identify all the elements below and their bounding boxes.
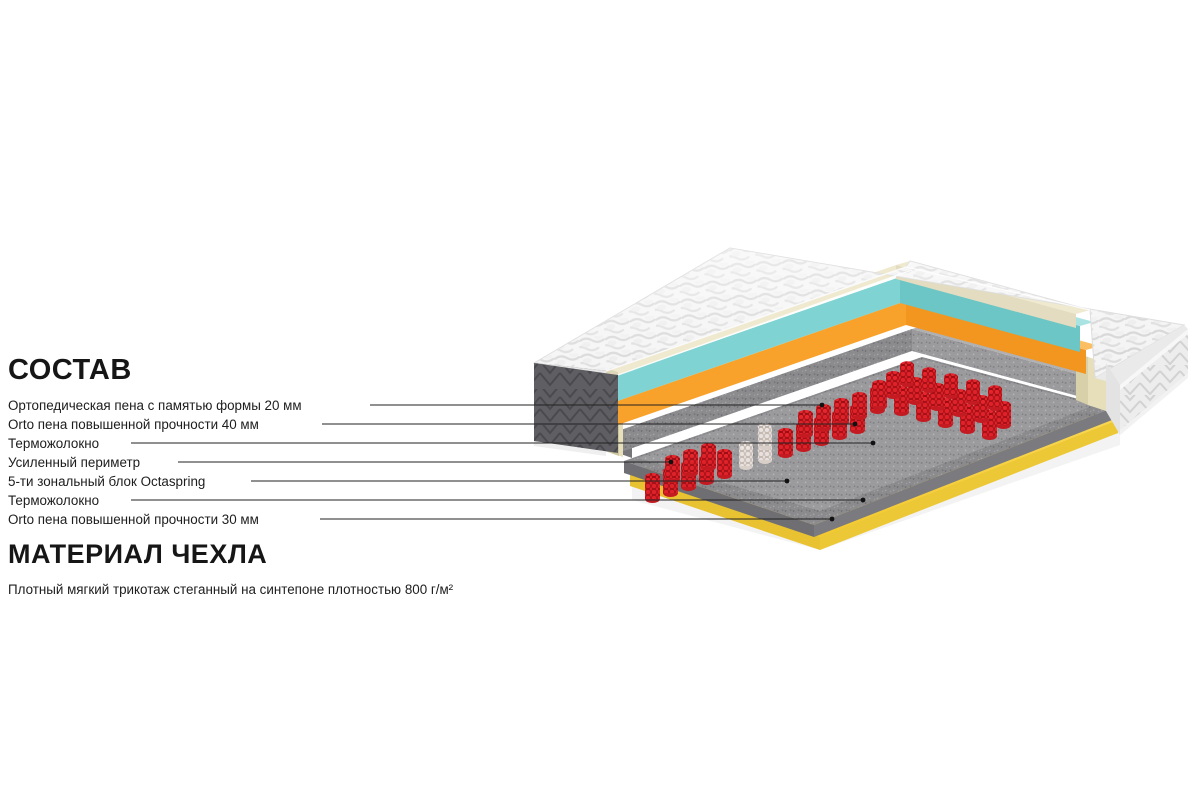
list-item: Терможолокно — [8, 434, 548, 453]
infographic-canvas: СОСТАВ Ортопедическая пена с памятью фор… — [0, 0, 1191, 794]
list-item: Orto пена повышенной прочности 30 мм — [8, 510, 548, 529]
spec-label-memory-foam: Ортопедическая пена с памятью формы 20 м… — [8, 396, 302, 415]
composition-heading: СОСТАВ — [8, 354, 132, 387]
cover-material-heading: МАТЕРИАЛ ЧЕХЛА — [8, 539, 267, 570]
list-item: Ортопедическая пена с памятью формы 20 м… — [8, 396, 548, 415]
spec-label-reinforced-perimeter: Усиленный периметр — [8, 453, 140, 472]
list-item: 5-ти зональный блок Octaspring — [8, 472, 548, 491]
mattress-svg — [520, 245, 1191, 555]
cover-material-description: Плотный мягкий трикотаж стеганный на син… — [8, 582, 453, 597]
spec-label-thermofiber-top: Терможолокно — [8, 434, 99, 453]
mattress-cutaway-illustration — [520, 245, 1191, 555]
list-item: Терможолокно — [8, 491, 548, 510]
list-item: Orto пена повышенной прочности 40 мм — [8, 415, 548, 434]
spec-label-orto-foam-top: Orto пена повышенной прочности 40 мм — [8, 415, 259, 434]
spec-label-thermofiber-bottom: Терможолокно — [8, 491, 99, 510]
spec-label-orto-foam-bottom: Orto пена повышенной прочности 30 мм — [8, 510, 259, 529]
list-item: Усиленный периметр — [8, 453, 548, 472]
composition-list: Ортопедическая пена с памятью формы 20 м… — [8, 396, 548, 529]
spec-label-spring-block: 5-ти зональный блок Octaspring — [8, 472, 205, 491]
